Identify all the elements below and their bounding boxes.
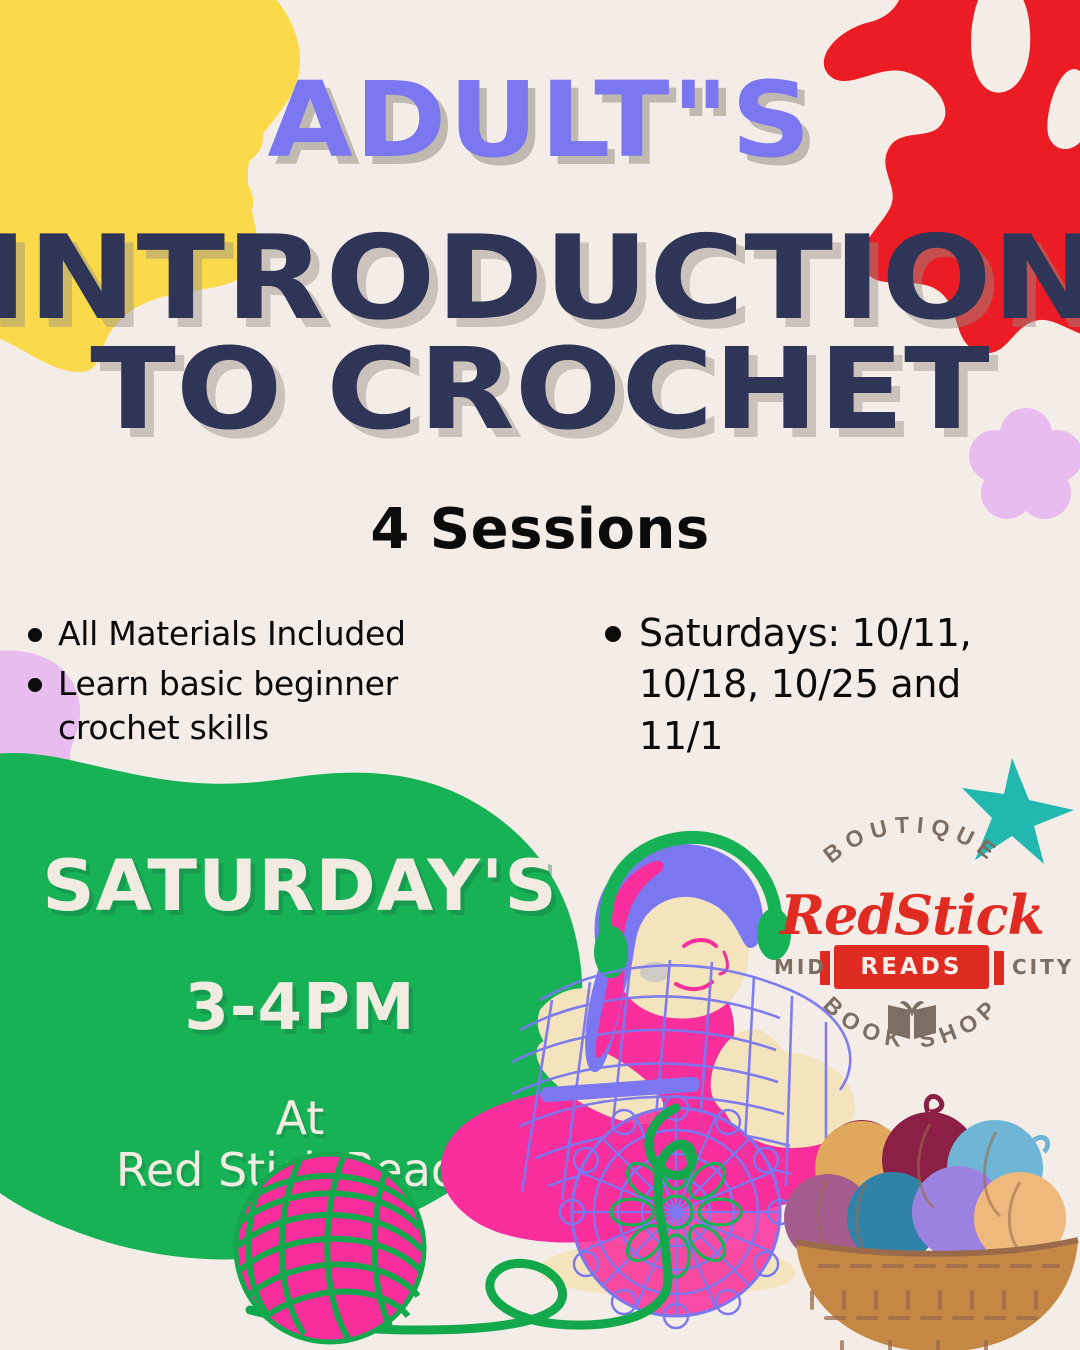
logo-banner-label: READS bbox=[861, 954, 963, 980]
logo-wordmark: RedStick bbox=[772, 883, 1052, 947]
logo-banner: READS bbox=[834, 945, 989, 989]
svg-text:BOUTIQUE: BOUTIQUE bbox=[818, 811, 1006, 868]
maroon-yarn-tail bbox=[926, 1096, 941, 1112]
yarn-ball-green-pink bbox=[236, 1154, 424, 1342]
logo-tag-city: CITY bbox=[1012, 955, 1074, 979]
logo-banner-tab-right bbox=[994, 951, 1004, 985]
logo-tag-mid: MID bbox=[774, 955, 827, 979]
open-book-icon bbox=[886, 997, 938, 1041]
logo-arc-top-text: BOUTIQUE bbox=[818, 811, 1006, 868]
poster-canvas: ADULT"S INTRODUCTION TO CROCHET 4 Sessio… bbox=[0, 0, 1080, 1350]
illustration-layer bbox=[0, 0, 1080, 1350]
redstick-reads-logo: BOUTIQUE BOOK SHOP RedStick READS MID CI… bbox=[772, 805, 1052, 1065]
